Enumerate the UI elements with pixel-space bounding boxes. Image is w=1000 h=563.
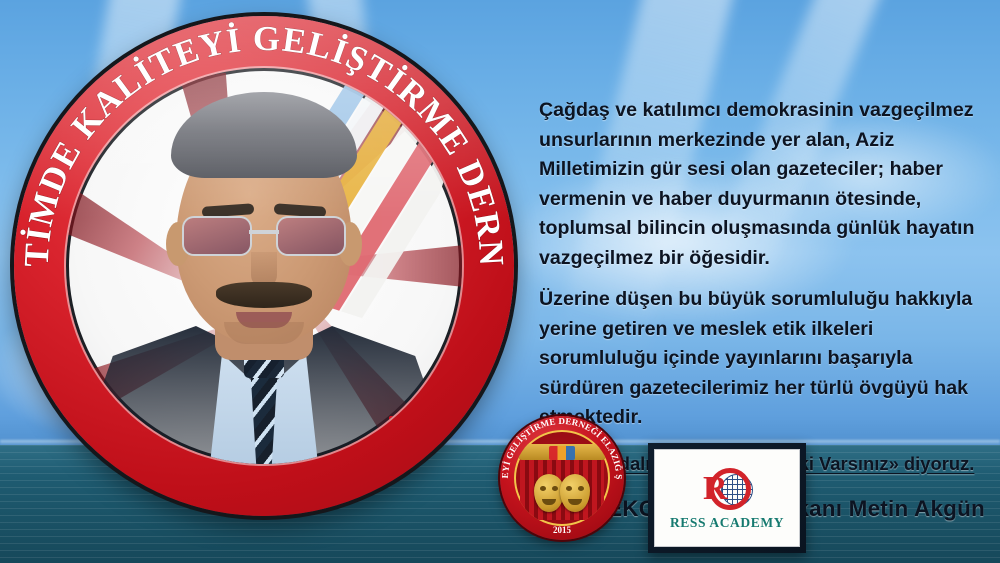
badge-ring-label: EĞİTİMDE KALİTEYİ GELİŞTİRME DERNEĞİ: [14, 16, 511, 268]
ress-academy-logo: R RESS ACADEMY: [648, 443, 806, 553]
seal-ring-label: EĞİTİMDE KALİTEYİ GELİŞTİRME DERNEĞİ ELA…: [500, 416, 624, 480]
theatre-seal: EĞİTİMDE KALİTEYİ GELİŞTİRME DERNEĞİ ELA…: [500, 416, 624, 540]
ress-globe-icon: R: [701, 466, 753, 512]
badge-ring-text: EĞİTİMDE KALİTEYİ GELİŞTİRME DERNEĞİ: [14, 16, 514, 516]
svg-text:EĞİTİMDE KALİTEYİ GELİŞTİRME D: EĞİTİMDE KALİTEYİ GELİŞTİRME DERNEĞİ: [14, 16, 511, 268]
association-badge: EĞİTİMDE KALİTEYİ GELİŞTİRME DERNEĞİ: [14, 16, 514, 516]
svg-text:EĞİTİMDE KALİTEYİ GELİŞTİRME D: EĞİTİMDE KALİTEYİ GELİŞTİRME DERNEĞİ ELA…: [500, 416, 624, 480]
seal-year: 2015: [500, 525, 624, 535]
message-paragraph-2: Üzerine düşen bu büyük sorumluluğu hakkı…: [539, 285, 991, 433]
ress-logo-card: R RESS ACADEMY: [654, 449, 800, 547]
poster: EĞİTİMDE KALİTEYİ GELİŞTİRME DERNEĞİ Çağ…: [0, 0, 1000, 563]
ress-monogram: R: [703, 472, 728, 506]
message-paragraph-1: Çağdaş ve katılımcı demokrasinin vazgeçi…: [539, 96, 991, 273]
ress-academy-name: RESS ACADEMY: [670, 515, 784, 531]
seal-ring-text: EĞİTİMDE KALİTEYİ GELİŞTİRME DERNEĞİ ELA…: [500, 416, 624, 540]
